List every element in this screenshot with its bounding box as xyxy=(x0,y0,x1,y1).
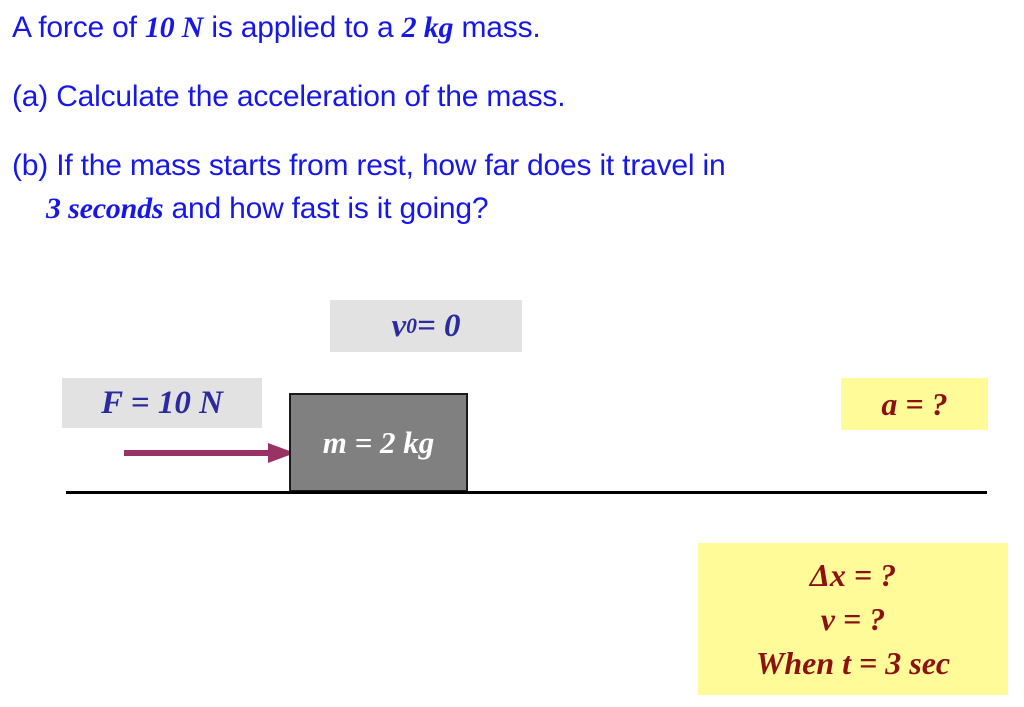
v0-subscript: 0 xyxy=(406,314,417,339)
intro-text-part3: mass. xyxy=(453,11,540,44)
intro-text-part1: A force of xyxy=(12,11,145,44)
unknowns-summary-box: Δx = ? v = ? When t = 3 sec xyxy=(698,543,1008,695)
v0-symbol: v xyxy=(391,308,406,345)
mass-value-emphasis: 2 kg xyxy=(402,11,454,44)
mass-block: m = 2 kg xyxy=(289,393,468,492)
intro-text-part2: is applied to a xyxy=(203,11,401,44)
initial-velocity-label: v0 = 0 xyxy=(330,300,522,352)
problem-intro-line: A force of 10 N is applied to a 2 kg mas… xyxy=(12,10,541,46)
problem-part-a: (a) Calculate the acceleration of the ma… xyxy=(12,79,565,115)
force-arrow-icon xyxy=(120,438,295,468)
force-value-emphasis: 10 N xyxy=(145,11,203,44)
problem-part-b-line2: 3 seconds and how fast is it going? xyxy=(46,191,488,227)
problem-part-b-line1: (b) If the mass starts from rest, how fa… xyxy=(12,148,725,184)
mass-block-label: m = 2 kg xyxy=(323,425,435,461)
part-b-line2-rest: and how fast is it going? xyxy=(163,192,488,225)
velocity-unknown: v = ? xyxy=(698,597,1008,641)
v0-value: = 0 xyxy=(417,308,461,345)
displacement-unknown: Δx = ? xyxy=(698,553,1008,597)
time-value-emphasis: 3 seconds xyxy=(46,192,163,225)
ground-surface-line xyxy=(66,491,987,494)
time-condition: When t = 3 sec xyxy=(698,641,1008,685)
applied-force-label: F = 10 N xyxy=(62,378,262,428)
acceleration-unknown-box: a = ? xyxy=(841,378,988,430)
